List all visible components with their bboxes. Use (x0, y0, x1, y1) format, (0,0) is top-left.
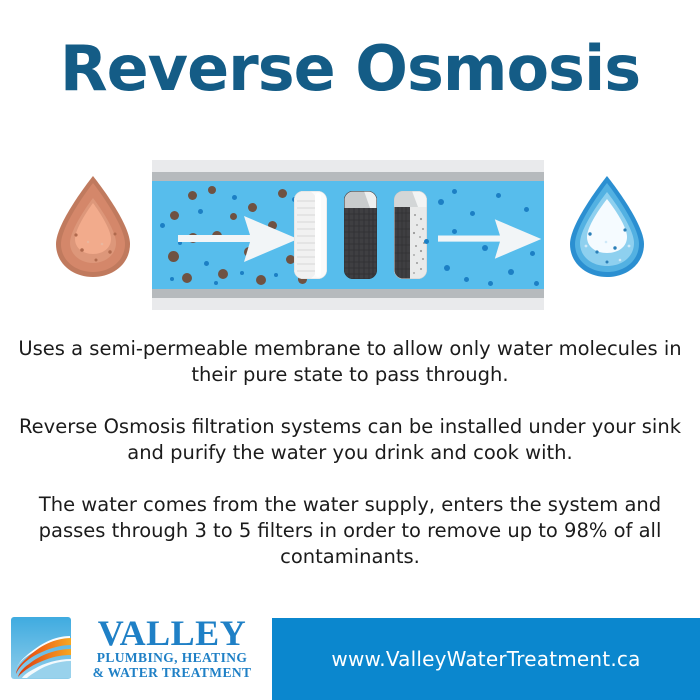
water-molecule-dot (204, 261, 209, 266)
water-molecule-dot (438, 199, 444, 205)
contaminant-particle (188, 191, 197, 200)
paragraph-2: Reverse Osmosis filtration systems can b… (18, 414, 682, 466)
carbon-block-filter-cartridge (344, 191, 377, 279)
contaminant-particle (256, 275, 266, 285)
contaminant-particle (230, 213, 237, 220)
pipe-bottom-band (152, 289, 544, 298)
water-molecule-dot (214, 281, 218, 285)
page-title: Reverse Osmosis (0, 36, 700, 101)
website-url-banner[interactable]: www.ValleyWaterTreatment.ca (272, 618, 700, 700)
water-molecule-dot (262, 247, 267, 252)
paragraph-1: Uses a semi-permeable membrane to allow … (18, 336, 682, 388)
contaminant-particle (248, 203, 257, 212)
contaminant-particle (278, 189, 287, 198)
water-molecule-dot (452, 189, 457, 194)
water-molecule-dot (524, 207, 529, 212)
water-molecule-dot (488, 281, 493, 286)
website-url-text[interactable]: www.ValleyWaterTreatment.ca (272, 647, 700, 671)
logo-tagline-line-2: & WATER TREATMENT (82, 665, 262, 680)
logo-brand-name: VALLEY (82, 616, 262, 650)
water-molecule-dot (178, 241, 182, 245)
water-molecule-dot (198, 209, 203, 214)
water-molecule-dot (232, 195, 237, 200)
logo-tagline-line-1: PLUMBING, HEATING (82, 650, 262, 665)
contaminant-particle (188, 233, 198, 243)
footer: www.ValleyWaterTreatment.ca (0, 600, 700, 700)
water-molecule-dot (464, 277, 469, 282)
water-molecule-dot (502, 225, 507, 230)
paragraph-3: The water comes from the water supply, e… (18, 492, 682, 570)
clean-water-droplet (566, 172, 648, 285)
contaminant-particle (168, 251, 179, 262)
outflow-arrow (438, 216, 543, 262)
water-molecule-dot (254, 225, 258, 229)
water-molecule-dot (452, 229, 457, 234)
pipe-housing (152, 160, 544, 310)
sediment-filter-cartridge (294, 191, 327, 279)
contaminant-particle (268, 221, 277, 230)
body-copy: Uses a semi-permeable membrane to allow … (18, 336, 682, 570)
filtration-diagram (0, 160, 700, 310)
water-molecule-dot (470, 211, 475, 216)
water-molecule-dot (170, 277, 174, 281)
infographic-canvas: Reverse Osmosis (0, 0, 700, 700)
water-molecule-dot (230, 235, 235, 240)
mixed-media-filter-cartridge (394, 191, 427, 279)
water-molecule-dot (496, 193, 501, 198)
pipe-water-channel (152, 181, 544, 289)
water-molecule-dot (160, 223, 165, 228)
water-molecule-dot (534, 281, 539, 286)
water-molecule-dot (240, 271, 244, 275)
contaminant-particle (244, 247, 254, 257)
water-molecule-dot (482, 245, 488, 251)
contaminant-particle (182, 273, 192, 283)
valley-logo-mark-icon (10, 616, 72, 680)
contaminant-particle (218, 269, 228, 279)
pipe-top-band (152, 172, 544, 181)
water-molecule-dot (424, 239, 429, 244)
dirty-water-droplet (52, 172, 134, 285)
contaminant-particle (170, 211, 179, 220)
valley-logo-wordmark: VALLEY PLUMBING, HEATING & WATER TREATME… (82, 616, 262, 680)
contaminant-particle (212, 231, 222, 241)
water-molecule-dot (274, 273, 278, 277)
water-molecule-dot (444, 265, 450, 271)
water-molecule-dot (508, 269, 514, 275)
water-molecule-dot (530, 251, 535, 256)
contaminant-particle (208, 186, 216, 194)
